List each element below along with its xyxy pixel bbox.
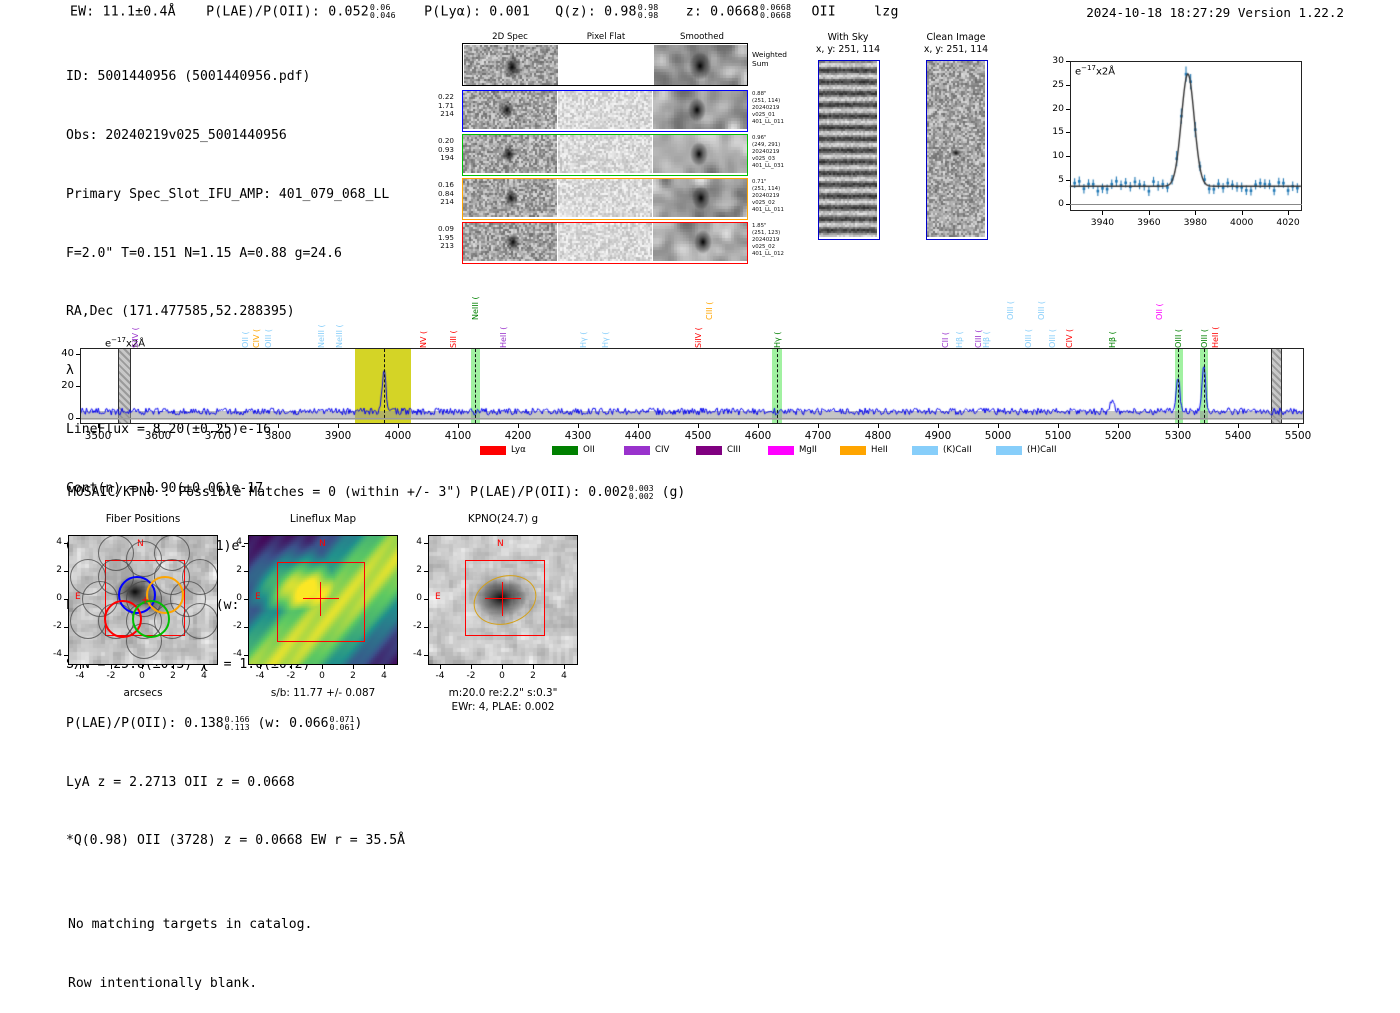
row-smoothed — [653, 135, 747, 173]
crosshair — [485, 598, 521, 599]
row-2dspec — [463, 135, 557, 173]
panel-2-xtick — [384, 665, 385, 669]
line-label-14: Hγ ( — [773, 304, 782, 348]
panel-2-xlabel: s/b: 11.77 +/- 0.087 — [218, 687, 428, 699]
info-redshifts: LyA z = 2.2713 OII z = 0.0668 — [66, 773, 405, 793]
line-label-11: Hγ ( — [601, 304, 610, 348]
row-2dspec — [463, 91, 557, 129]
header-qz-range: 0.980.98 — [638, 3, 659, 20]
peak-marker-2 — [475, 349, 476, 423]
panel-3-xtick — [440, 665, 441, 669]
panel-1-xtick-label: 2 — [161, 671, 185, 681]
spec2d-row-1-left-stats: 0.221.71214 — [422, 93, 454, 119]
legend-label-HeII: HeII — [871, 445, 888, 455]
spec2d-row-2 — [462, 134, 748, 176]
panel-3-xtick — [502, 665, 503, 669]
peak-marker-4 — [1178, 349, 1179, 423]
panel-3-xtick — [533, 665, 534, 669]
panel-1-ytick — [64, 543, 68, 544]
footer-line-1: No matching targets in catalog. — [68, 915, 312, 935]
peak-marker-1 — [384, 349, 385, 423]
cutout-subtitle-2: x, y: 251, 114 — [910, 44, 1002, 55]
panel-title-3: KPNO(24.7) g — [408, 513, 598, 525]
spec2d-row-3 — [462, 178, 748, 220]
clean-image-pixels — [927, 61, 985, 237]
header-plae-poii: P(LAE)/P(OII): 0.052 — [206, 4, 369, 19]
panel-3-xtick — [471, 665, 472, 669]
crosshair-v-2 — [320, 582, 321, 616]
panel-image-3: NE — [428, 535, 578, 665]
row-pixelflat — [558, 223, 652, 261]
legend-swatch-CIV — [624, 446, 650, 455]
line-label-27: OIII ( — [1200, 304, 1209, 348]
spec2d-row-3-left-stats: 0.160.84214 — [422, 181, 454, 207]
header-plya: P(Lyα): 0.001 — [424, 4, 530, 19]
panel-2-ytick — [244, 543, 248, 544]
panel-1-ytick-label: -2 — [40, 621, 62, 631]
spec2d-row-4-left-stats: 0.091.95213 — [422, 225, 454, 251]
line-label-12: SiIV ( — [694, 304, 703, 348]
spec2d-row-3-meta: 0.71"(251, 114)20240219v025_02401_LL_011 — [752, 179, 800, 214]
spec2d-row-1-meta: 0.88"(251, 114)20240219v025_01401_LL_011 — [752, 91, 800, 126]
panel-3-ytick-label: -2 — [400, 621, 422, 631]
panel-title-2: Lineflux Map — [228, 513, 418, 525]
line-label-7: NeIII ( — [471, 276, 480, 320]
fiber-circle-11 — [70, 603, 106, 639]
header-flag: lzg — [874, 4, 898, 19]
line-label-16: Hβ ( — [955, 304, 964, 348]
spec2d-row-1 — [462, 90, 748, 132]
panel-3-xtick — [564, 665, 565, 669]
panel-3-xtick-label: 2 — [521, 671, 545, 681]
line-label-0: SiIV ( — [131, 304, 140, 348]
panel-title-1: Fiber Positions — [48, 513, 238, 525]
row-smoothed — [653, 91, 747, 129]
panel-2-ytick — [244, 655, 248, 656]
panel-2-ytick-label: 4 — [220, 537, 242, 547]
info-q-line: *Q(0.98) OII (3728) z = 0.0668 EW r = 35… — [66, 831, 405, 851]
full-spectrum-plot: e−17x2Å020403500360037003800390040004100… — [0, 270, 1400, 470]
panel-1-xtick-label: -2 — [99, 671, 123, 681]
line-label-23: CIV ( — [1065, 304, 1074, 348]
line-label-6: NV ( — [419, 304, 428, 348]
header-plae-poii-range: 0.060.046 — [370, 3, 396, 20]
panel-2-xtick-label: 2 — [341, 671, 365, 681]
peak-marker-3 — [777, 349, 778, 423]
panel-1-xtick — [204, 665, 205, 669]
info-primary-spec: Primary Spec_Slot_IFU_AMP: 401_079_068_L… — [66, 185, 405, 205]
spec2d-row-4-meta: 1.85"(251, 123)20240219v025_02401_LL_012 — [752, 223, 800, 258]
line-label-22: OIII ( — [1048, 304, 1057, 348]
fiber-circle-13 — [98, 535, 134, 571]
panel-3-ytick — [424, 543, 428, 544]
cutout-panel-group: With Skyx, y: 251, 114Clean Imagex, y: 2… — [818, 32, 1018, 247]
line-label-13: CIII ( — [705, 276, 714, 320]
line-label-19: OIII ( — [1006, 276, 1015, 320]
panel-2-xtick — [291, 665, 292, 669]
compass-north-3: N — [497, 539, 504, 549]
panel-1-ytick-label: 2 — [40, 565, 62, 575]
crosshair-v — [502, 582, 503, 616]
cutout-image-2 — [926, 60, 988, 240]
line-label-21: OIII ( — [1037, 276, 1046, 320]
row-2dspec — [463, 223, 557, 261]
spec2d-panel-group: 2D SpecPixel FlatSmoothedWeightedSum0.22… — [462, 32, 802, 257]
footer-line-2: Row intentionally blank. — [68, 974, 312, 994]
panel-3-xtick-label: 0 — [490, 671, 514, 681]
timestamp: 2024-10-18 18:27:29 Version 1.22.2 — [1086, 5, 1344, 20]
info-obs: Obs: 20240219v025_5001440956 — [66, 126, 405, 146]
panel-1-xtick — [80, 665, 81, 669]
panel-1-xtick-label: 4 — [192, 671, 216, 681]
line-label-26: OIII ( — [1174, 304, 1183, 348]
panel-1-xtick — [173, 665, 174, 669]
header-z-range: 0.06680.0668 — [760, 3, 791, 20]
line-label-15: CII ( — [941, 304, 950, 348]
info-id: ID: 5001440956 (5001440956.pdf) — [66, 67, 405, 87]
line-label-9: HeII ( — [499, 304, 508, 348]
panel-1-ytick — [64, 571, 68, 572]
line-label-25: OII ( — [1155, 276, 1164, 320]
cutout-title-1: With Sky — [802, 32, 894, 43]
row-pixelflat — [558, 179, 652, 217]
cutout-subtitle-1: x, y: 251, 114 — [802, 44, 894, 55]
panel-2-ytick — [244, 599, 248, 600]
panel-1-ytick-label: 0 — [40, 593, 62, 603]
panel-3-ytick — [424, 599, 428, 600]
header-summary-line: EW: 11.1±0.4Å P(LAE)/P(OII): 0.0520.060.… — [70, 3, 899, 20]
legend-swatch-OII — [552, 446, 578, 455]
legend-swatch-(K)CaII — [912, 446, 938, 455]
panel-3-caption2: EWr: 4, PLAE: 0.002 — [398, 701, 608, 713]
mosaic-match-line: MOSAIC/KPNO : Possible Matches = 0 (with… — [68, 484, 685, 501]
row-2dspec — [463, 179, 557, 217]
panel-2-xtick-label: 0 — [310, 671, 334, 681]
fiber-circle-9 — [70, 559, 106, 595]
panel-2-xtick-label: -4 — [248, 671, 272, 681]
panel-2-ytick-label: 2 — [220, 565, 242, 575]
panel-3-ytick-label: -4 — [400, 649, 422, 659]
fiber-circle-10 — [182, 559, 218, 595]
panel-3-ytick — [424, 571, 428, 572]
aperture-box-2 — [277, 562, 365, 642]
fiber-highlight-green — [132, 600, 170, 638]
panel-1-xtick-label: -4 — [68, 671, 92, 681]
panel-image-1: NE+ — [68, 535, 218, 665]
image-panel-group: Fiber PositionsNE+420-2-4-4-2024arcsecsL… — [0, 505, 650, 735]
line-label-24: Hβ ( — [1108, 304, 1117, 348]
panel-1-ytick — [64, 599, 68, 600]
panel-1-ytick — [64, 627, 68, 628]
zoom-plot-canvas — [1036, 55, 1308, 245]
line-label-8: SiII ( — [449, 304, 458, 348]
line-label-20: OIII ( — [1024, 304, 1033, 348]
spec2d-col-title-3: Smoothed — [640, 32, 764, 42]
emission-line-zoom-plot: e−17x2Å05101520253039403960398040004020 — [1036, 55, 1308, 245]
cutout-image-1 — [818, 60, 880, 240]
row-pixelflat — [558, 135, 652, 173]
line-label-18: Hβ ( — [982, 304, 991, 348]
legend-label-MgII: MgII — [799, 445, 817, 455]
line-label-1: OII ( — [241, 304, 250, 348]
panel-2-xtick-label: 4 — [372, 671, 396, 681]
spec2d-row-2-left-stats: 0.200.93194 — [422, 137, 454, 163]
panel-2-xtick — [260, 665, 261, 669]
panel-3-ytick-label: 4 — [400, 537, 422, 547]
fiber-circle-12 — [182, 603, 218, 639]
panel-1-xtick — [142, 665, 143, 669]
line-label-5: NeIII ( — [335, 304, 344, 348]
panel-3-ytick-label: 0 — [400, 593, 422, 603]
legend-label-CIII: CIII — [727, 445, 741, 455]
panel-3-xtick-label: 4 — [552, 671, 576, 681]
row-pixelflat — [558, 91, 652, 129]
legend-swatch-Lyα — [480, 446, 506, 455]
panel-1-xtick-label: 0 — [130, 671, 154, 681]
weighted-sum-smoothed — [654, 45, 748, 85]
legend-swatch-(H)CaII — [996, 446, 1022, 455]
compass-north-2: N — [319, 539, 326, 549]
compass-east-2: E — [255, 592, 261, 602]
panel-1-xtick — [111, 665, 112, 669]
panel-2-ytick-label: 0 — [220, 593, 242, 603]
legend-swatch-MgII — [768, 446, 794, 455]
header-ew: EW: 11.1±0.4Å — [70, 4, 176, 19]
panel-2-xtick — [322, 665, 323, 669]
line-label-10: Hγ ( — [579, 304, 588, 348]
info-seeing: F=2.0" T=0.151 N=1.15 A=0.88 g=24.6 — [66, 244, 405, 264]
panel-2-ytick — [244, 571, 248, 572]
footer-note: No matching targets in catalog. Row inte… — [68, 876, 312, 1013]
panel-2-ytick-label: -2 — [220, 621, 242, 631]
header-qz: Q(z): 0.98 — [555, 4, 636, 19]
legend-label-Lyα: Lyα — [511, 445, 526, 455]
panel-3-ytick — [424, 655, 428, 656]
line-label-3: OIII ( — [264, 304, 273, 348]
panel-1-ytick — [64, 655, 68, 656]
with-sky-pixels — [819, 61, 877, 237]
weighted-sum-label: WeightedSum — [752, 50, 804, 68]
legend-label-(K)CaII: (K)CaII — [943, 445, 972, 455]
row-smoothed — [653, 179, 747, 217]
panel-image-2: NE — [248, 535, 398, 665]
line-label-28: HeII ( — [1211, 304, 1220, 348]
panel-2-ytick — [244, 627, 248, 628]
peak-marker-5 — [1204, 349, 1205, 423]
spec2d-row-4 — [462, 222, 748, 264]
spectrum-trace-canvas — [0, 270, 1400, 470]
legend-label-OII: OII — [583, 445, 595, 455]
panel-1-xlabel: arcsecs — [38, 687, 248, 699]
crosshair-h-2 — [303, 598, 339, 599]
panel-3-xlabel: m:20.0 re:2.2" s:0.3" — [398, 687, 608, 699]
target-marker-1: + — [141, 596, 150, 605]
compass-east-3: E — [435, 592, 441, 602]
panel-3-xtick-label: -4 — [428, 671, 452, 681]
panel-1-ytick-label: -4 — [40, 649, 62, 659]
header-z-type: OII — [811, 4, 835, 19]
header-z: z: 0.0668 — [686, 4, 759, 19]
legend-label-CIV: CIV — [655, 445, 669, 455]
panel-3-xtick-label: -2 — [459, 671, 483, 681]
line-label-4: NeIII ( — [317, 304, 326, 348]
row-smoothed — [653, 223, 747, 261]
panel-2-xtick — [353, 665, 354, 669]
cutout-title-2: Clean Image — [910, 32, 1002, 43]
weighted-sum-strip — [462, 43, 748, 86]
panel-2-xtick-label: -2 — [279, 671, 303, 681]
panel-3-ytick-label: 2 — [400, 565, 422, 575]
spec2d-row-2-meta: 0.96"(249, 291)20240219v025_03401_LL_031 — [752, 135, 800, 170]
line-label-2: CIV ( — [252, 304, 261, 348]
legend-label-(H)CaII: (H)CaII — [1027, 445, 1057, 455]
weighted-sum-2dspec — [464, 45, 558, 85]
fiber-circle-14 — [154, 535, 190, 571]
panel-3-ytick — [424, 627, 428, 628]
legend-swatch-CIII — [696, 446, 722, 455]
panel-2-ytick-label: -4 — [220, 649, 242, 659]
legend-swatch-HeII — [840, 446, 866, 455]
panel-1-ytick-label: 4 — [40, 537, 62, 547]
